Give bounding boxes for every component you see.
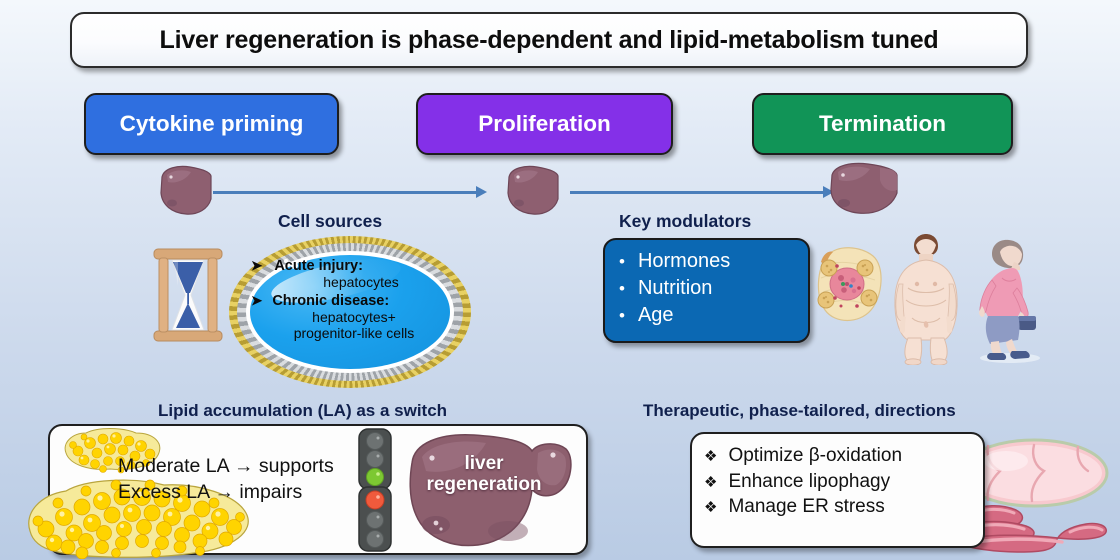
phase-label: Cytokine priming bbox=[120, 111, 304, 137]
lipid-statement-moderate: Moderate LA → supports bbox=[118, 454, 334, 480]
key-modulators-heading: Key modulators bbox=[619, 211, 751, 232]
nutrition-food-icon bbox=[813, 240, 885, 328]
diamond-bullet-icon: ❖ bbox=[704, 447, 717, 467]
elderly-person-icon bbox=[962, 236, 1044, 364]
diamond-bullet-icon: ❖ bbox=[704, 473, 717, 493]
traffic-light-green-icon[interactable] bbox=[358, 428, 392, 490]
key-modulator-item-hormones: • Hormones bbox=[619, 248, 808, 275]
diamond-bullet-icon: ❖ bbox=[704, 498, 717, 518]
liver-regeneration-label: liver regeneration bbox=[404, 454, 564, 496]
cell-sources-text: ➤ Acute injury: hepatocytes ➤ Chronic di… bbox=[251, 258, 457, 341]
phase-label: Proliferation bbox=[478, 111, 611, 137]
cell-source-detail: hepatocytes bbox=[265, 275, 457, 291]
liver-label-line-2: regeneration bbox=[404, 475, 564, 496]
cell-source-item-acute: ➤ Acute injury: bbox=[251, 258, 457, 274]
cell-source-detail: hepatocytes+ bbox=[251, 310, 457, 326]
obese-person-icon bbox=[890, 232, 962, 365]
liver-label-line-1: liver bbox=[404, 454, 564, 475]
cell-sources-cell: ➤ Acute injury: hepatocytes ➤ Chronic di… bbox=[229, 236, 471, 388]
phase-arrow-1 bbox=[213, 191, 478, 194]
cell-source-term: Chronic disease: bbox=[272, 293, 389, 309]
key-modulator-label: Age bbox=[638, 302, 674, 329]
lipid-statements: Moderate LA → supports Excess LA → impai… bbox=[118, 454, 334, 505]
chevron-right-icon: ➤ bbox=[251, 258, 262, 273]
bullet-icon: • bbox=[619, 307, 625, 324]
therapeutic-label: Optimize β-oxidation bbox=[728, 443, 902, 469]
cell-sources-heading: Cell sources bbox=[278, 211, 382, 232]
key-modulator-label: Hormones bbox=[638, 248, 730, 275]
bullet-icon: • bbox=[619, 253, 625, 270]
phase-box-cytokine-priming[interactable]: Cytokine priming bbox=[84, 93, 339, 155]
chevron-right-icon: ➤ bbox=[251, 293, 262, 308]
liver-icon-phase-3 bbox=[828, 160, 900, 218]
cell-source-item-chronic: ➤ Chronic disease: bbox=[251, 293, 457, 309]
page-title: Liver regeneration is phase-dependent an… bbox=[160, 26, 939, 55]
key-modulator-label: Nutrition bbox=[638, 275, 712, 302]
key-modulator-item-nutrition: • Nutrition bbox=[619, 275, 808, 302]
phase-label: Termination bbox=[819, 111, 946, 137]
bullet-icon: • bbox=[619, 280, 625, 297]
phase-box-proliferation[interactable]: Proliferation bbox=[416, 93, 673, 155]
therapeutic-label: Manage ER stress bbox=[728, 494, 884, 520]
liver-icon-phase-2 bbox=[505, 163, 561, 217]
traffic-light-red-icon[interactable] bbox=[358, 486, 392, 552]
therapeutic-label: Enhance lipophagy bbox=[728, 469, 890, 495]
liver-icon-phase-1 bbox=[158, 163, 214, 217]
page-title-banner: Liver regeneration is phase-dependent an… bbox=[70, 12, 1028, 68]
key-modulators-box[interactable]: • Hormones • Nutrition • Age bbox=[603, 238, 810, 343]
cell-source-term: Acute injury: bbox=[274, 258, 363, 274]
therapeutic-item-optimize-b-oxidation: ❖ Optimize β-oxidation bbox=[704, 443, 983, 469]
therapeutic-item-enhance-lipophagy: ❖ Enhance lipophagy bbox=[704, 469, 983, 495]
phase-arrow-2 bbox=[570, 191, 825, 194]
therapeutic-item-manage-er-stress: ❖ Manage ER stress bbox=[704, 494, 983, 520]
phase-arrow-1-head bbox=[476, 186, 487, 198]
phase-box-termination[interactable]: Termination bbox=[752, 93, 1013, 155]
key-modulator-item-age: • Age bbox=[619, 302, 808, 329]
lipid-section-heading: Lipid accumulation (LA) as a switch bbox=[158, 401, 447, 421]
therapeutic-section-heading: Therapeutic, phase-tailored, directions bbox=[643, 401, 956, 421]
therapeutic-directions-box[interactable]: ❖ Optimize β-oxidation ❖ Enhance lipopha… bbox=[690, 432, 985, 548]
hourglass-icon bbox=[150, 246, 226, 344]
cell-source-detail: progenitor-like cells bbox=[251, 326, 457, 342]
lipid-statement-excess: Excess LA → impairs bbox=[118, 480, 334, 506]
